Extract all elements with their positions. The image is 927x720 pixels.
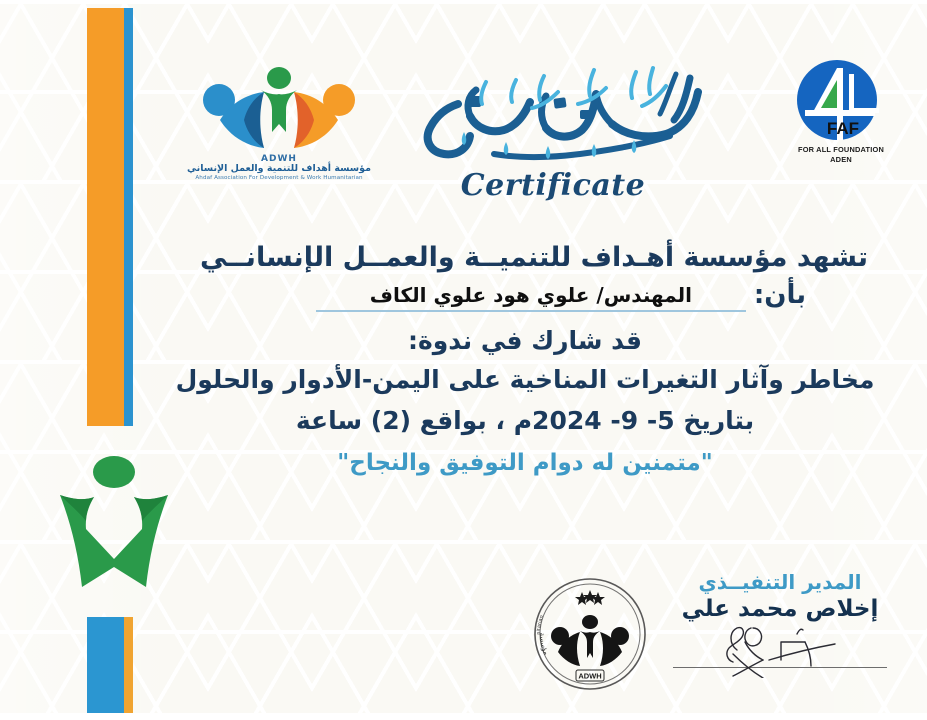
- adwh-arabic-name: مؤسسة أهداف للتنمية والعمل الإنساني: [186, 164, 372, 175]
- event-date-line: بتاريخ 5- 9- 2024م ، بواقع (2) ساعة: [150, 406, 900, 435]
- left-rail-top: [87, 8, 133, 426]
- left-rail-bottom: [87, 617, 133, 720]
- svg-text:Ahdaf Association For Developm: Ahdaf Association For Development - Work…: [528, 572, 545, 635]
- faf-logo: FAF FOR ALL FOUNDATION ADEN: [777, 58, 905, 170]
- rail-stripe-orange-bottom: [124, 617, 133, 720]
- faf-caption-line1: FOR ALL FOUNDATION: [777, 145, 905, 154]
- certificate-page: ADWH مؤسسة أهداف للتنمية والعمل الإنساني…: [0, 0, 927, 720]
- bottom-margin: [0, 713, 927, 720]
- official-stamp: Ahdaf Association For Development - Work…: [528, 572, 652, 696]
- faf-logo-mark: FAF: [793, 58, 889, 144]
- handwritten-signature: [685, 620, 875, 678]
- faf-caption-line2: ADEN: [777, 155, 905, 164]
- green-person-figure-icon: [58, 455, 170, 605]
- certificate-body: تشهد مؤسسة أهـداف للتنميــة والعمــل الإ…: [150, 240, 900, 476]
- svg-text:ADWH: ADWH: [578, 672, 601, 681]
- attestation-line: تشهد مؤسسة أهـداف للتنميــة والعمــل الإ…: [150, 240, 900, 276]
- rail-stripe-orange: [87, 8, 124, 426]
- adwh-english-name: Ahdaf Association For Development & Work…: [186, 175, 372, 181]
- svg-text:FAF: FAF: [827, 119, 859, 138]
- certificate-english-word: Certificate: [398, 168, 708, 203]
- rail-stripe-blue-bottom: [87, 617, 124, 720]
- recipient-row: بأن: المهندس/ علوي هود علوي الكاف: [150, 280, 900, 312]
- recipient-name-field: المهندس/ علوي هود علوي الكاف: [316, 283, 746, 312]
- wish-line: "متمنين له دوام التوفيق والنجاح": [150, 450, 900, 476]
- adwh-logo: ADWH مؤسسة أهداف للتنمية والعمل الإنساني…: [186, 58, 372, 194]
- adwh-logo-text: ADWH مؤسسة أهداف للتنمية والعمل الإنساني…: [186, 154, 372, 182]
- signature-title: المدير التنفيــذي: [673, 570, 887, 594]
- calligraphy-title: [398, 58, 708, 170]
- signature-name: إخلاص محمد علي: [673, 596, 887, 622]
- signature-block: المدير التنفيــذي إخلاص محمد علي: [673, 570, 887, 668]
- recipient-name: المهندس/ علوي هود علوي الكاف: [370, 283, 692, 307]
- that-label: بأن:: [754, 280, 806, 312]
- adwh-logo-mark: [186, 58, 372, 154]
- event-title: مخاطر وآثار التغيرات المناخية على اليمن-…: [150, 364, 900, 397]
- rail-stripe-blue: [124, 8, 133, 426]
- participation-intro: قد شارك في ندوة:: [150, 326, 900, 355]
- signature-line: [673, 667, 887, 668]
